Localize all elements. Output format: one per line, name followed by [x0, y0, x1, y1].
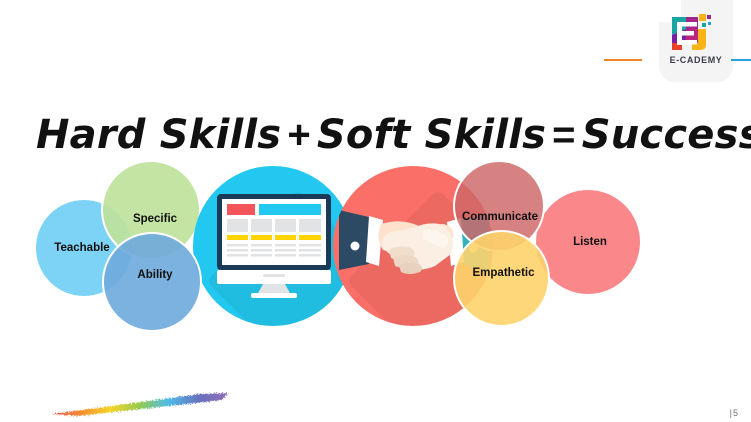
e-cademy-logo-icon — [668, 13, 712, 53]
venn-label-teachable: Teachable — [54, 242, 109, 254]
venn-circle-ability: Ability — [102, 232, 202, 332]
venn-label-listen: Listen — [573, 236, 607, 248]
title-success: Success — [582, 112, 751, 158]
skills-diagram: Teachable Specific Ability — [28, 160, 638, 340]
title-hard-skills: Hard Skills — [36, 112, 281, 158]
venn-label-ability: Ability — [137, 269, 172, 281]
venn-circle-empathetic: Empathetic — [453, 230, 550, 327]
rainbow-brush-icon — [50, 391, 230, 417]
venn-label-specific: Specific — [133, 213, 177, 225]
title-operator-equals: = — [546, 113, 582, 157]
slide-header: E-CADEMY — [0, 0, 751, 90]
header-rule-orange — [604, 59, 642, 61]
title-soft-skills: Soft Skills — [317, 112, 546, 158]
brand-name: E-CADEMY — [655, 55, 737, 65]
venn-circle-listen: Listen — [534, 188, 642, 296]
venn-label-communicate: Communicate — [462, 211, 538, 223]
title-operator-plus: + — [281, 113, 317, 157]
page-number: |5 — [730, 408, 739, 418]
venn-label-empathetic: Empathetic — [473, 267, 535, 279]
page-title: Hard Skills+Soft Skills=Success — [36, 112, 751, 158]
desktop-monitor-icon — [217, 194, 331, 303]
desktop-monitor-illustration — [193, 166, 353, 326]
